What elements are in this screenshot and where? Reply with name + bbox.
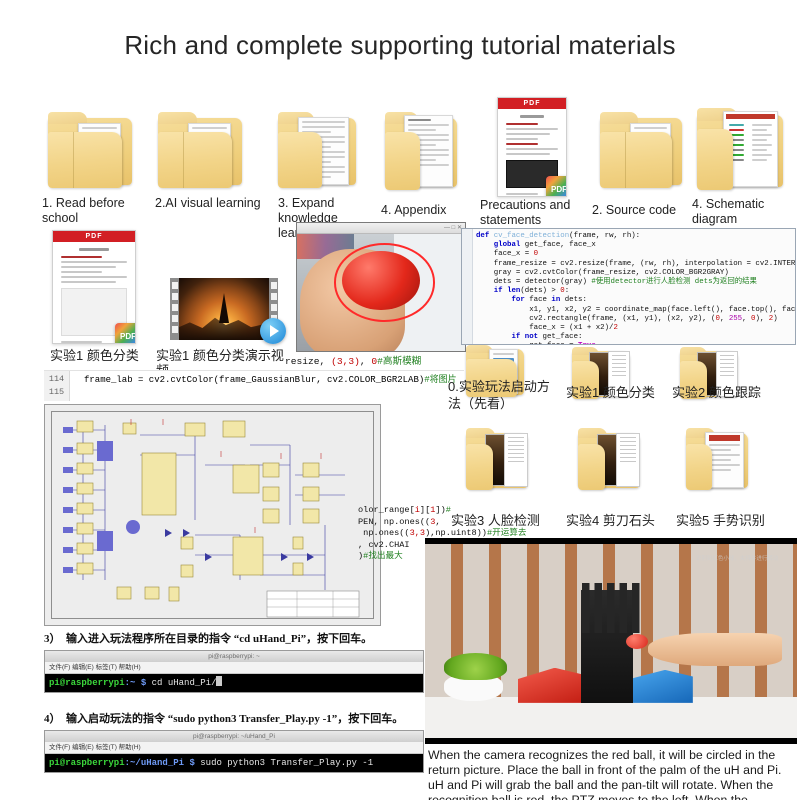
terminal-2-body[interactable]: pi@raspberrypi:~/uHand_Pi $ sudo python3…: [45, 754, 423, 772]
ball-scene: [297, 223, 465, 351]
video-experiment1-demo[interactable]: [170, 278, 278, 340]
page-title: Rich and complete supporting tutorial ma…: [0, 30, 800, 61]
folder-schematic-label: 4. Schematic diagram: [692, 197, 792, 227]
code-content: def cv_face_detection(frame, rw, rh): gl…: [462, 229, 795, 345]
folder-exp1-label: 实验1 颜色分类: [566, 385, 676, 400]
terminal-1-prompt-path: :~: [125, 678, 136, 688]
folder-document-icon: [278, 112, 356, 188]
robot-hand-scene: 识别到红色小球，夹持并进行转动: [425, 538, 797, 744]
folder-document-icon: [697, 108, 783, 190]
folder-2-label: 2.AI visual learning: [155, 196, 275, 211]
terminal-2-titlebar: pi@raspberrypi: ~/uHand_Pi: [45, 731, 423, 742]
folder-exp5-label: 实验5 手势识别: [676, 513, 786, 528]
terminal-cursor: [216, 676, 222, 686]
line-number-114: 114: [44, 373, 69, 386]
folder-2-ai-visual-learning[interactable]: [158, 112, 242, 188]
folder-3-expand-knowledge[interactable]: [278, 112, 356, 188]
terminal-1-menubar[interactable]: 文件(F) 编辑(E) 标签(T) 帮助(H): [45, 662, 423, 674]
play-icon[interactable]: [260, 318, 286, 344]
terminal-1-window[interactable]: pi@raspberrypi: ~ 文件(F) 编辑(E) 标签(T) 帮助(H…: [44, 650, 424, 693]
pdf-experiment1-color-classification[interactable]: PDF PDF: [52, 230, 134, 342]
photo-watermark: 识别到红色小球，夹持并进行转动: [696, 554, 779, 562]
editor-code-line: frame_lab = cv2.cvtColor(frame_GaussianB…: [84, 372, 457, 385]
terminal-1-titlebar: pi@raspberrypi: ~: [45, 651, 423, 662]
terminal-2-window[interactable]: pi@raspberrypi: ~/uHand_Pi 文件(F) 编辑(E) 标…: [44, 730, 424, 773]
folder-schematic-diagram[interactable]: [697, 108, 783, 190]
pdf-precautions-and-statements[interactable]: PDF PDF: [497, 97, 565, 195]
demo-caption: When the camera recognizes the red ball,…: [428, 748, 794, 800]
schematic-graphics: [45, 405, 380, 625]
line-number-115: 115: [44, 386, 69, 399]
terminal-2-prompt-user: pi@raspberrypi: [49, 758, 125, 768]
folder-source-code-label: 2. Source code: [592, 203, 692, 218]
terminal-1-instruction: 3） 输入进入玩法程序所在目录的指令 “cd uHand_Pi”，按下回车。: [44, 630, 424, 646]
folder-4-appendix[interactable]: [385, 112, 457, 190]
folder-document-icon: [385, 112, 457, 190]
folder-exp5-gesture-recognition[interactable]: [686, 428, 748, 490]
pdf-header-label-2: PDF: [53, 231, 135, 242]
folder-exp4-rock-paper-scissors[interactable]: [578, 428, 640, 490]
tutorial-materials-poster: Rich and complete supporting tutorial ma…: [0, 0, 800, 800]
folder-exp0-label: 0.实验玩法启动方法（先看）: [448, 378, 552, 412]
circuit-schematic-diagram: [44, 404, 381, 626]
folder-exp3-label: 实验3 人脸检测: [451, 513, 561, 528]
folder-1-read-before-school[interactable]: [48, 112, 132, 188]
red-ball-detection-photo: — □ ✕: [296, 222, 466, 352]
code-fragment-gaussian-blur: resize, (3,3), 0#高斯模糊: [285, 356, 421, 369]
folder-icon: [600, 112, 682, 188]
pdf-precautions-label: Precautions and statements: [480, 198, 572, 228]
pdf-badge-icon: PDF: [546, 176, 567, 197]
folder-icon: [158, 112, 242, 188]
folder-exp3-face-detection[interactable]: [466, 428, 528, 490]
terminal-block-2: 4） 输入启动玩法的指令 “sudo python3 Transfer_Play…: [44, 710, 424, 773]
pdf-header-label: PDF: [498, 98, 566, 109]
folder-icon: [578, 428, 640, 490]
folder-icon: [686, 428, 748, 490]
folder-exp4-label: 实验4 剪刀石头: [566, 513, 676, 528]
folder-icon: [466, 428, 528, 490]
pdf-document-icon: PDF PDF: [52, 230, 136, 344]
terminal-1-prompt-symbol: $: [141, 678, 146, 688]
robot-hand-demo-photo: 识别到红色小球，夹持并进行转动: [425, 538, 797, 744]
folder-source-code[interactable]: [600, 112, 682, 188]
terminal-1-command: cd uHand_Pi/: [152, 678, 217, 688]
face-detection-code-panel: def cv_face_detection(frame, rw, rh): gl…: [461, 228, 796, 345]
detection-circle-icon: [334, 243, 435, 321]
terminal-2-instruction: 4） 输入启动玩法的指令 “sudo python3 Transfer_Play…: [44, 710, 424, 726]
terminal-2-menubar[interactable]: 文件(F) 编辑(E) 标签(T) 帮助(H): [45, 742, 423, 754]
editor-line-strip: 114 115 frame_lab = cv2.cvtColor(frame_G…: [44, 370, 464, 401]
folder-exp2-label: 实验2 颜色跟踪: [672, 385, 782, 400]
terminal-1-body[interactable]: pi@raspberrypi:~ $ cd uHand_Pi/: [45, 674, 423, 692]
editor-gutter: 114 115: [44, 371, 70, 401]
pdf-badge-icon-2: PDF: [115, 323, 136, 344]
terminal-2-prompt-symbol: $: [189, 758, 194, 768]
terminal-1-prompt-user: pi@raspberrypi: [49, 678, 125, 688]
code-gutter: [462, 229, 473, 344]
folder-icon: [48, 112, 132, 188]
terminal-2-command: sudo python3 Transfer_Play.py -1: [200, 758, 373, 768]
pdf-document-icon: PDF PDF: [497, 97, 567, 197]
terminal-block-1: 3） 输入进入玩法程序所在目录的指令 “cd uHand_Pi”，按下回车。 p…: [44, 630, 424, 693]
folder-1-label: 1. Read before school: [42, 196, 150, 226]
folder-4-label: 4. Appendix: [381, 203, 471, 218]
window-titlebar: — □ ✕: [297, 223, 465, 234]
terminal-2-prompt-path: :~/uHand_Pi: [125, 758, 184, 768]
pdf-experiment1-label: 实验1 颜色分类: [50, 348, 160, 363]
